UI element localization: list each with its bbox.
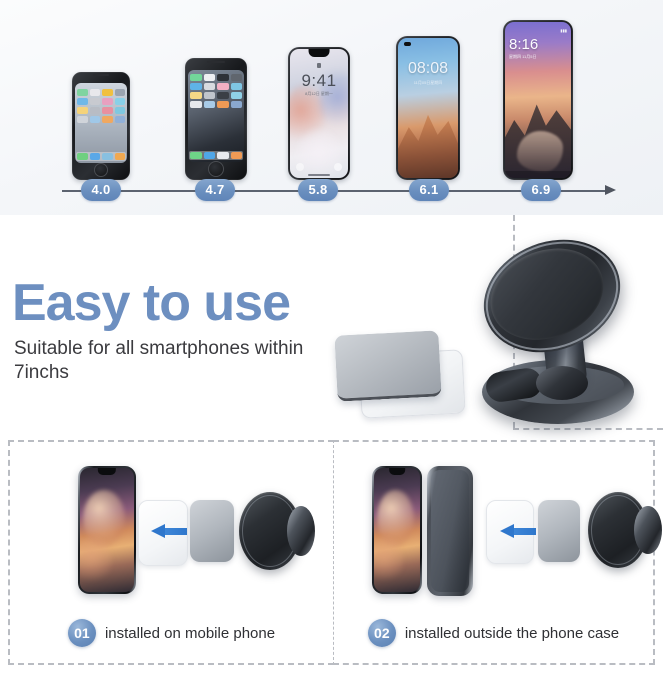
step-02-label: installed outside the phone case [405, 625, 619, 642]
phone-5-8-time: 9:41 [290, 71, 348, 91]
size-pill-6-1: 6.1 [409, 179, 449, 201]
phone-4-7 [185, 58, 247, 180]
size-pill-6-9: 6.9 [521, 179, 561, 201]
phone-6-1-note: 11月05日星期四 [398, 80, 458, 86]
step-01-metal-plate [190, 500, 234, 562]
step-01-direction-arrow [151, 524, 187, 538]
arrow-right-icon [605, 185, 616, 195]
magnetic-car-mount [452, 232, 652, 428]
size-pill-4-7: 4.7 [195, 179, 235, 201]
size-comparison-band: 9:41 8月12日 星期一 08:08 11月05日星期四 [0, 0, 663, 215]
page-title: Easy to use [12, 277, 290, 329]
size-timeline: 4.0 4.7 5.8 6.1 6.9 [0, 176, 663, 206]
phones-row: 9:41 8月12日 星期一 08:08 11月05日星期四 [0, 0, 663, 180]
step-01-number-badge: 01 [68, 619, 96, 647]
product-infographic: 9:41 8月12日 星期一 08:08 11月05日星期四 [0, 0, 663, 673]
metal-plate-gray [334, 330, 441, 401]
phone-5-8-note: 8月12日 星期一 [290, 91, 348, 97]
step-02-caption: 02 installed outside the phone case [334, 619, 653, 647]
phone-5-8: 9:41 8月12日 星期一 [288, 47, 350, 180]
step-02-phone [372, 466, 422, 594]
phone-6-1-time: 08:08 [398, 60, 458, 78]
step-01-caption: 01 installed on mobile phone [10, 619, 333, 647]
step-01-label: installed on mobile phone [105, 625, 275, 642]
mount-magnet-head [467, 221, 636, 372]
page-subtitle: Suitable for all smartphones within 7inc… [14, 337, 304, 386]
phone-6-9-time: 8:16 [509, 36, 538, 53]
step-02-number-badge: 02 [368, 619, 396, 647]
step-02-metal-plate [538, 500, 580, 562]
phone-6-9-note: 星期四 11月5日 [509, 54, 537, 60]
size-pill-5-8: 5.8 [298, 179, 338, 201]
phone-6-9: 8:16 星期四 11月5日 ▮▮▮ [503, 20, 573, 180]
step-panel-01: 01 installed on mobile phone [8, 440, 334, 665]
mount-joint [536, 366, 588, 400]
product-area-divider-bottom [513, 428, 663, 430]
phone-6-1: 08:08 11月05日星期四 [396, 36, 460, 180]
step-01-magnet-mount [239, 492, 301, 570]
step-panel-02: 02 installed outside the phone case [333, 440, 655, 665]
size-pill-4-0: 4.0 [81, 179, 121, 201]
step-02-phone-case [427, 466, 473, 596]
step-01-scene [10, 448, 333, 608]
step-02-scene [334, 448, 653, 608]
step-01-phone [78, 466, 136, 594]
installation-steps: 01 installed on mobile phone [8, 440, 655, 665]
phone-4-0 [72, 72, 130, 180]
step-02-magnet-mount [588, 492, 648, 568]
step-02-direction-arrow [500, 524, 536, 538]
